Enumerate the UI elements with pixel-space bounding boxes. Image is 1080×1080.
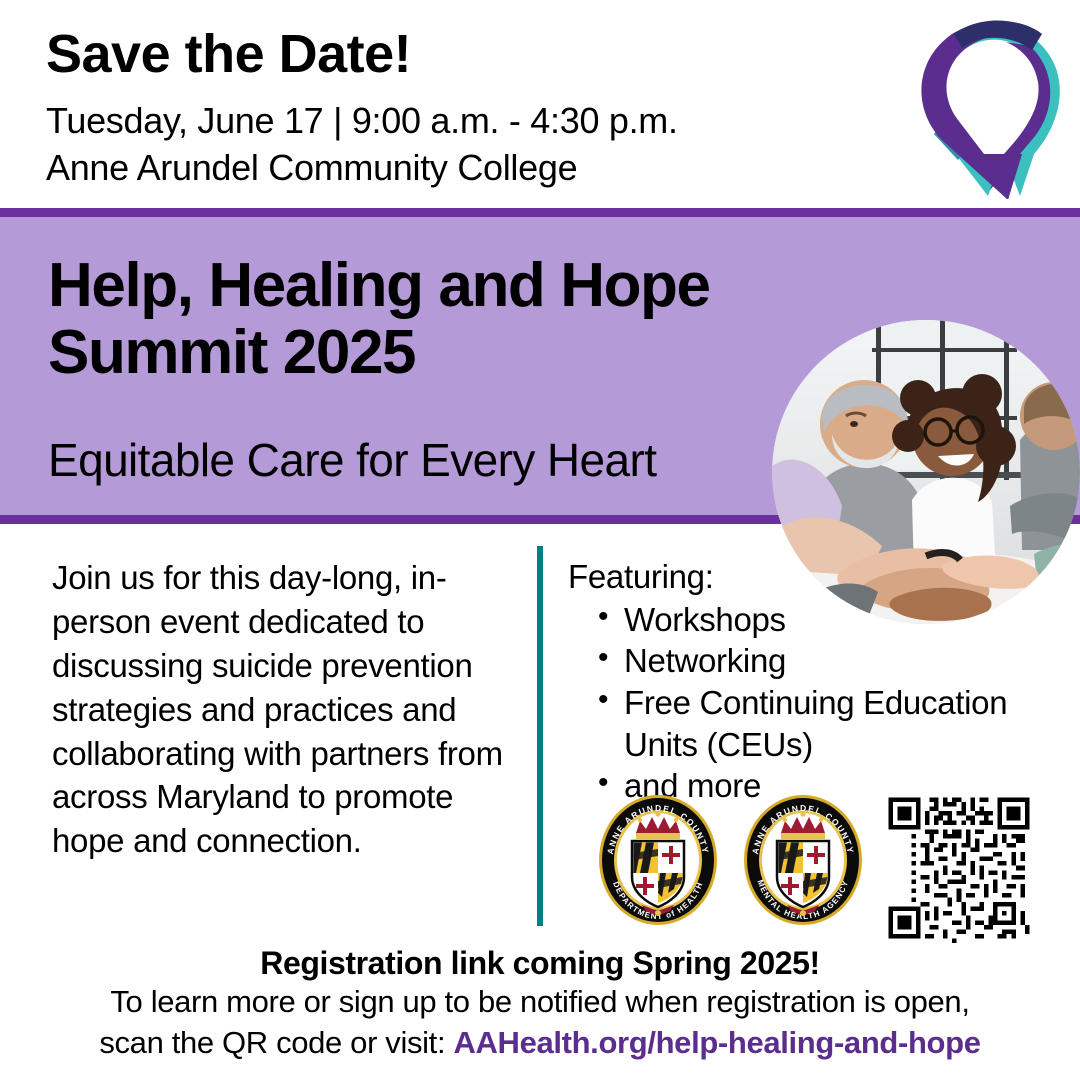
intro-paragraph: Join us for this day-long, in-person eve…	[52, 556, 507, 863]
registration-note-line2: scan the QR code or visit: AAHealth.org/…	[0, 1023, 1080, 1063]
list-item: Free Continuing Education Units (CEUs)	[568, 682, 1068, 765]
anne-arundel-county-department-of-health-seal: ANNE ARUNDEL COUNTY DEPARTMENT of HEALTH	[596, 793, 720, 927]
awareness-ribbon-icon	[892, 4, 1072, 199]
intro-column: Join us for this day-long, in-person eve…	[52, 556, 507, 863]
group-hands-photo	[772, 320, 1080, 624]
summit-title: Help, Healing and Hope Summit 2025	[48, 253, 928, 387]
event-datetime: Tuesday, June 17 | 9:00 a.m. - 4:30 p.m.	[46, 101, 678, 141]
page-title: Save the Date!	[46, 26, 411, 83]
list-item: Networking	[568, 640, 1068, 682]
registration-headline: Registration link coming Spring 2025!	[0, 944, 1080, 982]
anne-arundel-county-mental-health-agency-seal: ANNE ARUNDEL COUNTY MENTAL HEALTH AGENCY	[741, 793, 865, 927]
qr-code[interactable]	[884, 793, 1034, 943]
registration-note-line1: To learn more or sign up to be notified …	[0, 982, 1080, 1022]
header-section: Save the Date! Tuesday, June 17 | 9:00 a…	[0, 0, 1080, 208]
summit-subtitle: Equitable Care for Every Heart	[48, 435, 656, 486]
column-divider	[537, 546, 543, 926]
registration-url[interactable]: AAHealth.org/help-healing-and-hope	[453, 1025, 980, 1060]
featuring-list: Workshops Networking Free Continuing Edu…	[568, 599, 1068, 807]
footer-section: Registration link coming Spring 2025! To…	[0, 944, 1080, 1063]
registration-note-prefix: scan the QR code or visit:	[99, 1025, 453, 1060]
event-venue: Anne Arundel Community College	[46, 148, 577, 188]
